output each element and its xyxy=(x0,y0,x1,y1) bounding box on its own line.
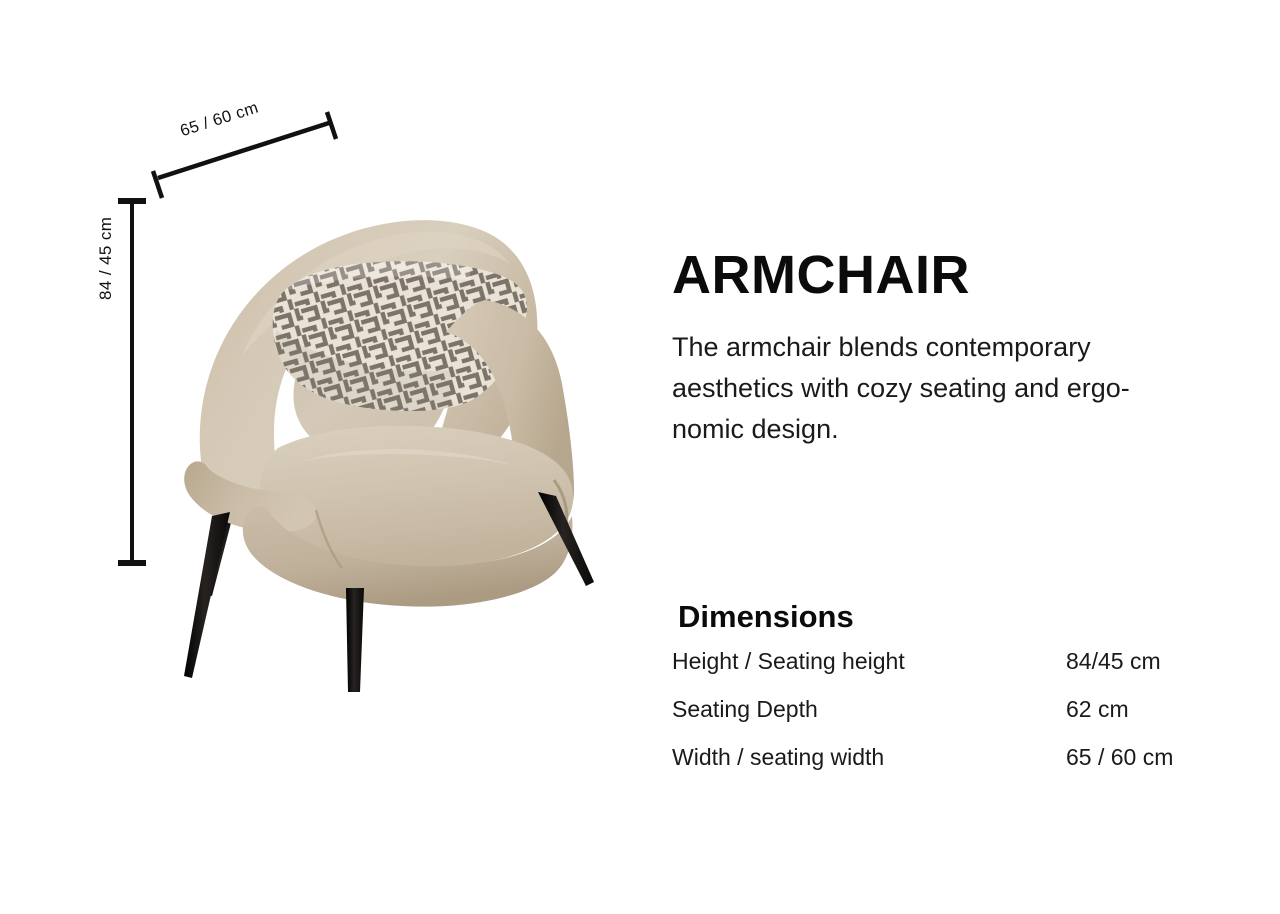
dimensions-row-label: Seating Depth xyxy=(672,696,818,723)
armchair-illustration xyxy=(150,180,640,700)
leg-front-center xyxy=(346,588,364,692)
dimensions-row-label: Width / seating width xyxy=(672,744,884,771)
height-dimension-label: 84 / 45 cm xyxy=(96,217,116,300)
dimensions-row-width: Width / seating width 65 / 60 cm xyxy=(672,744,1232,792)
dimensions-table: Height / Seating height 84/45 cm Seating… xyxy=(672,648,1232,792)
dimensions-row-value: 62 cm xyxy=(1066,696,1129,723)
dimensions-row-height: Height / Seating height 84/45 cm xyxy=(672,648,1232,696)
dimensions-row-value: 65 / 60 cm xyxy=(1066,744,1173,771)
leg-front-left xyxy=(184,512,230,678)
product-spec-page: 65 / 60 cm 84 / 45 cm xyxy=(0,0,1280,914)
product-description: The armchair blends contemporary aesthet… xyxy=(672,327,1172,450)
product-visual-panel: 65 / 60 cm 84 / 45 cm xyxy=(0,0,650,914)
product-title: ARMCHAIR xyxy=(672,248,970,302)
dimensions-heading: Dimensions xyxy=(678,599,854,635)
dimensions-row-value: 84/45 cm xyxy=(1066,648,1161,675)
product-info-panel: ARMCHAIR The armchair blends contemporar… xyxy=(668,0,1268,914)
dimensions-row-seating-depth: Seating Depth 62 cm xyxy=(672,696,1232,744)
dimensions-row-label: Height / Seating height xyxy=(672,648,905,675)
